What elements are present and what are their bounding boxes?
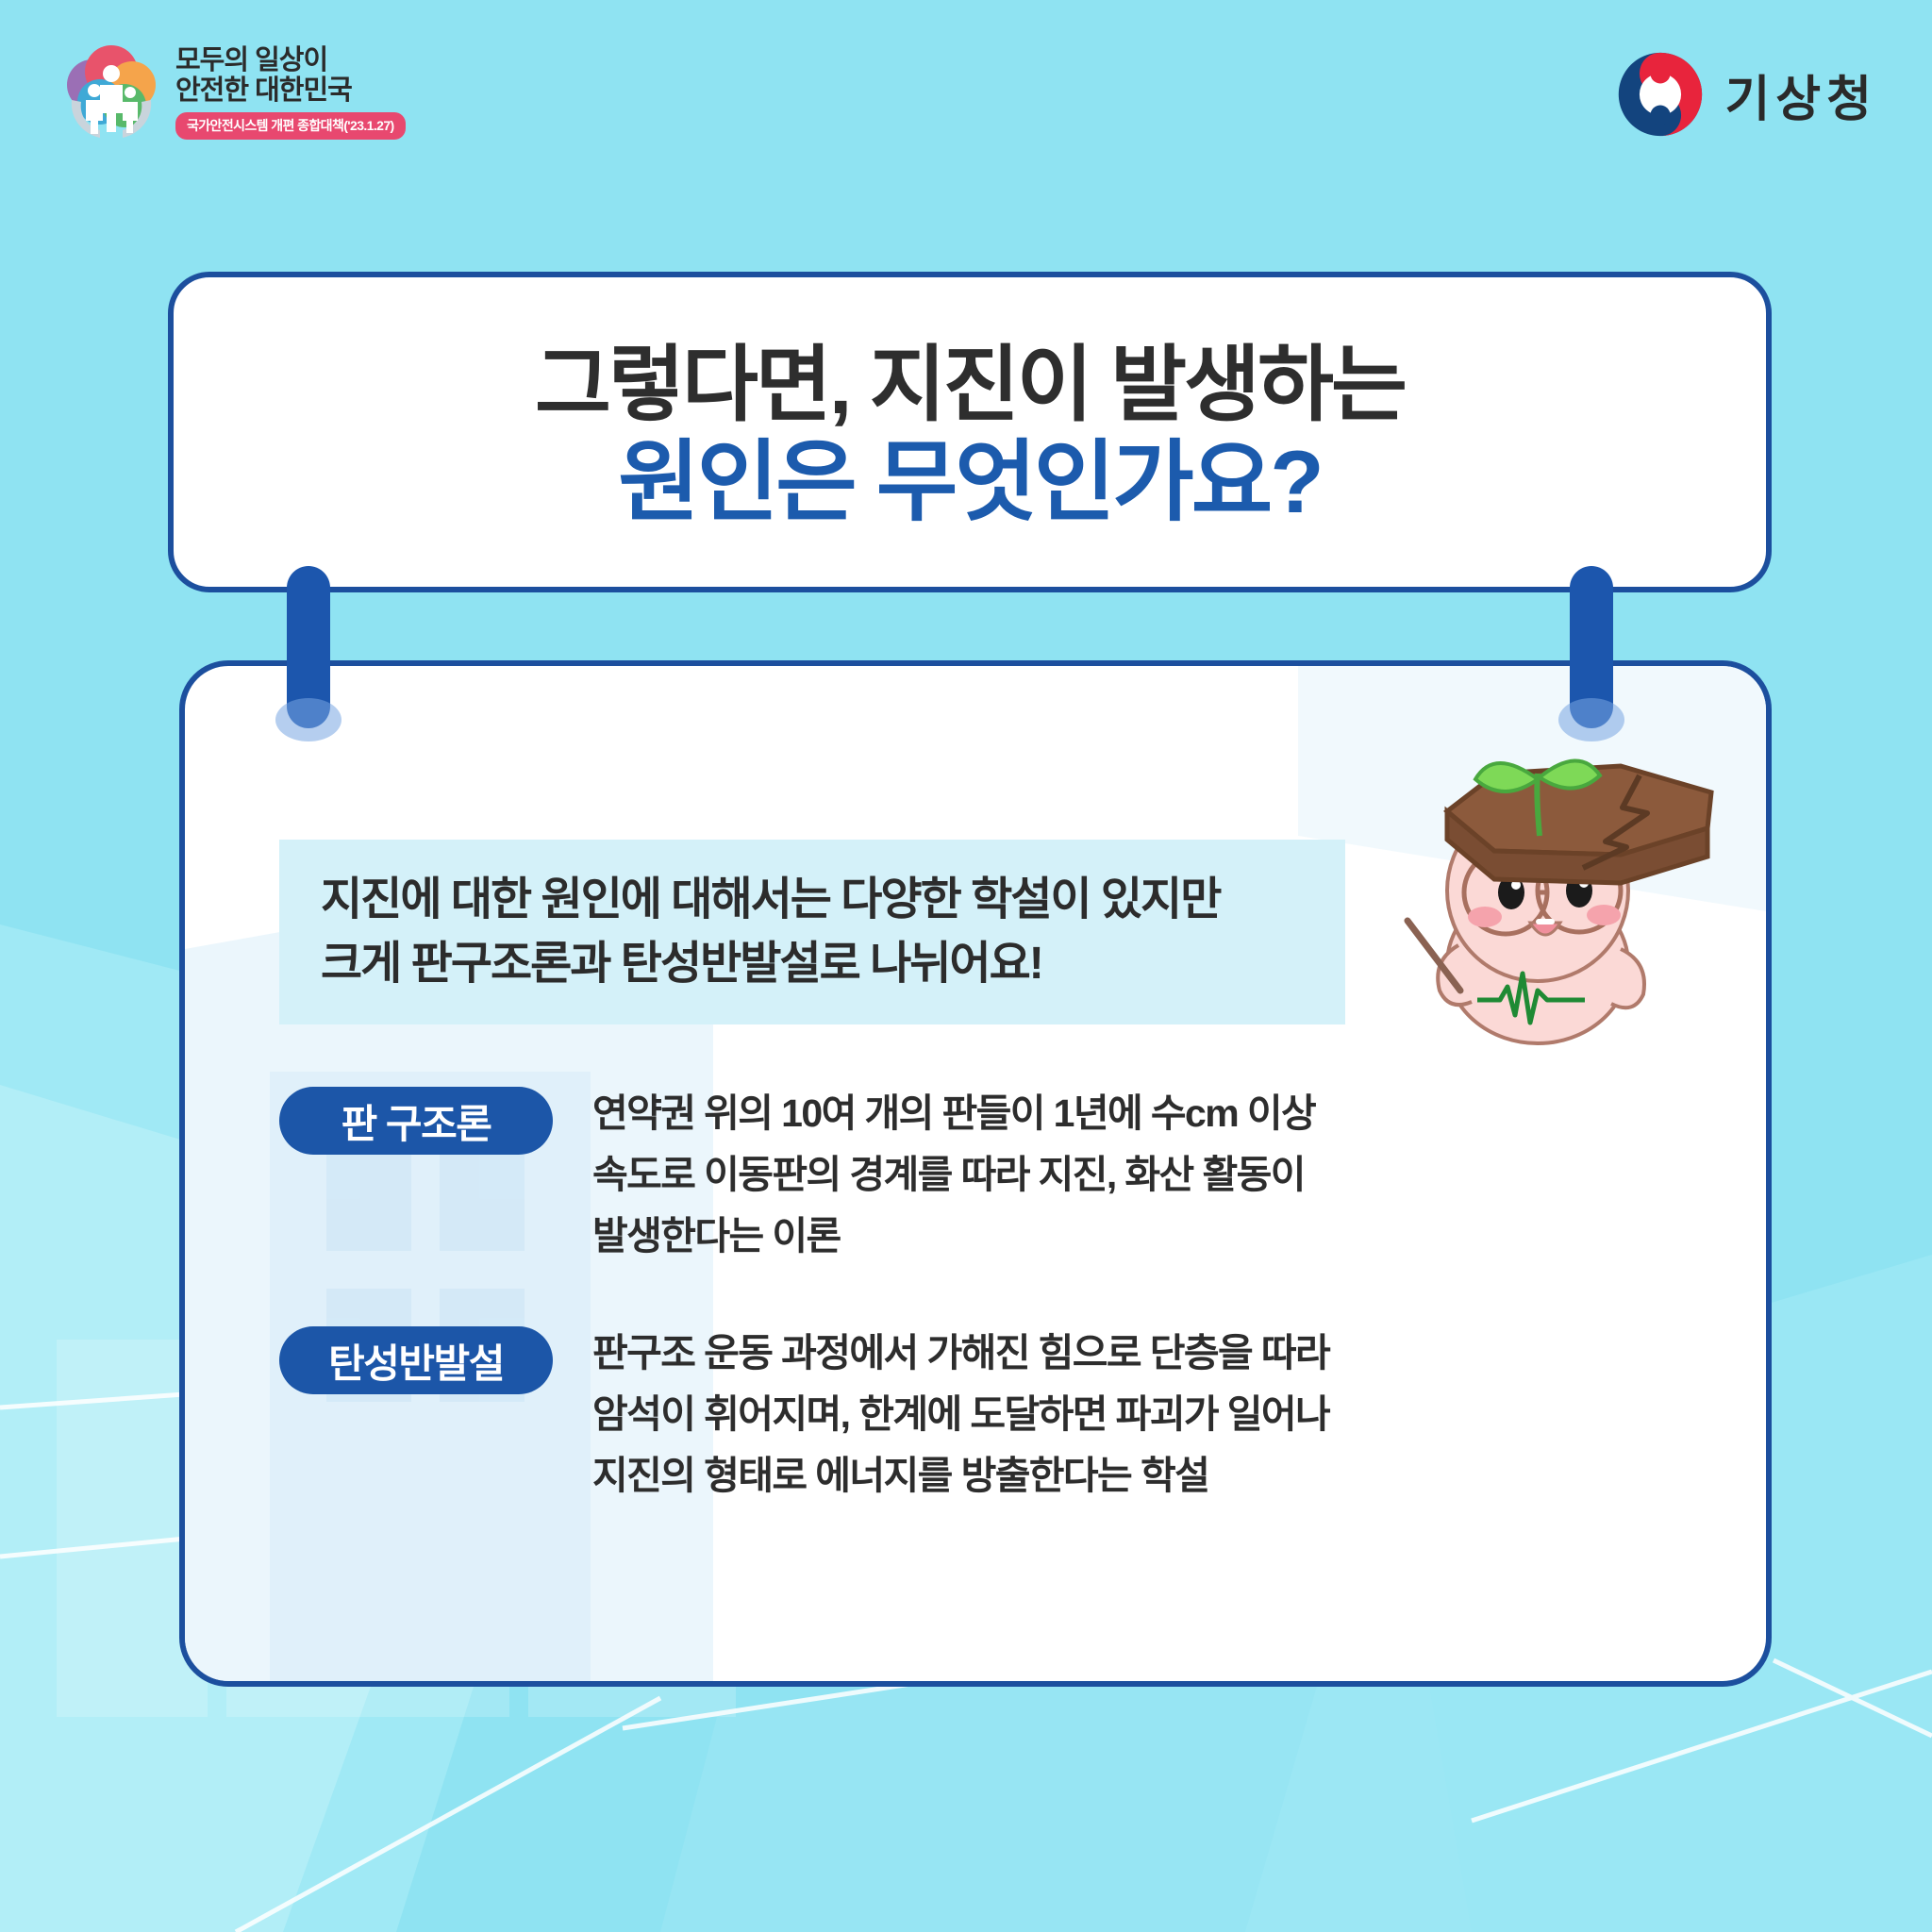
content-card: 지진에 대한 원인에 대해서는 다양한 학설이 있지만 크게 판구조론과 탄성반… [179,660,1772,1687]
pill-elastic-rebound: 탄성반발설 [279,1326,553,1394]
theory-line: 지진의 형태로 에너지를 방출한다는 학설 [592,1445,1675,1507]
highlight-line-2: 크게 판구조론과 탄성반발설로 나뉘어요! [321,932,1345,996]
title-line-2: 원인은 무엇인가요? [618,434,1321,530]
gov-logo-badge: 국가안전시스템 개편 종합대책('23.1.27) [175,112,406,140]
title-card: 그렇다면, 지진이 발생하는 원인은 무엇인가요? [168,272,1772,592]
taegeuk-icon [1615,49,1706,140]
earthquake-mascot-character [1338,711,1734,1051]
theory-row: 탄성반발설 판구조 운동 과정에서 가해진 힘으로 단층을 따라 암석이 휘어지… [279,1321,1675,1506]
highlight-line-1: 지진에 대한 원인에 대해서는 다양한 학설이 있지만 [321,868,1345,932]
pill-plate-tectonics: 판 구조론 [279,1087,553,1155]
theory-rows: 판 구조론 연약권 위의 10여 개의 판들이 1년에 수cm 이상 속도로 이… [279,1081,1675,1561]
theory-line: 암석이 휘어지며, 한계에 도달하면 파괴가 일어나 [592,1384,1675,1445]
kma-logo: 기상청 [1615,49,1877,140]
connector-pin-right [1570,566,1613,728]
theory-line: 발생한다는 이론 [592,1206,1675,1267]
gov-safety-logo-mark [58,40,164,145]
gov-safety-logo: 모두의 일상이 안전한 대한민국 국가안전시스템 개편 종합대책('23.1.2… [58,40,406,145]
theory-line: 판구조 운동 과정에서 가해진 힘으로 단층을 따라 [592,1323,1675,1384]
kma-logo-text: 기상청 [1724,59,1877,130]
theory-description: 판구조 운동 과정에서 가해진 힘으로 단층을 따라 암석이 휘어지며, 한계에… [592,1321,1675,1506]
gov-logo-line2: 안전한 대한민국 [175,75,406,106]
connector-pin-left [287,566,330,728]
theory-row: 판 구조론 연약권 위의 10여 개의 판들이 1년에 수cm 이상 속도로 이… [279,1081,1675,1266]
highlight-box: 지진에 대한 원인에 대해서는 다양한 학설이 있지만 크게 판구조론과 탄성반… [279,840,1345,1024]
theory-line: 연약권 위의 10여 개의 판들이 1년에 수cm 이상 [592,1083,1675,1144]
page-header: 모두의 일상이 안전한 대한민국 국가안전시스템 개편 종합대책('23.1.2… [0,0,1932,189]
theory-description: 연약권 위의 10여 개의 판들이 1년에 수cm 이상 속도로 이동판의 경계… [592,1081,1675,1266]
gov-logo-line1: 모두의 일상이 [175,45,406,75]
theory-line: 속도로 이동판의 경계를 따라 지진, 화산 활동이 [592,1144,1675,1206]
title-line-1: 그렇다면, 지진이 발생하는 [535,341,1405,428]
